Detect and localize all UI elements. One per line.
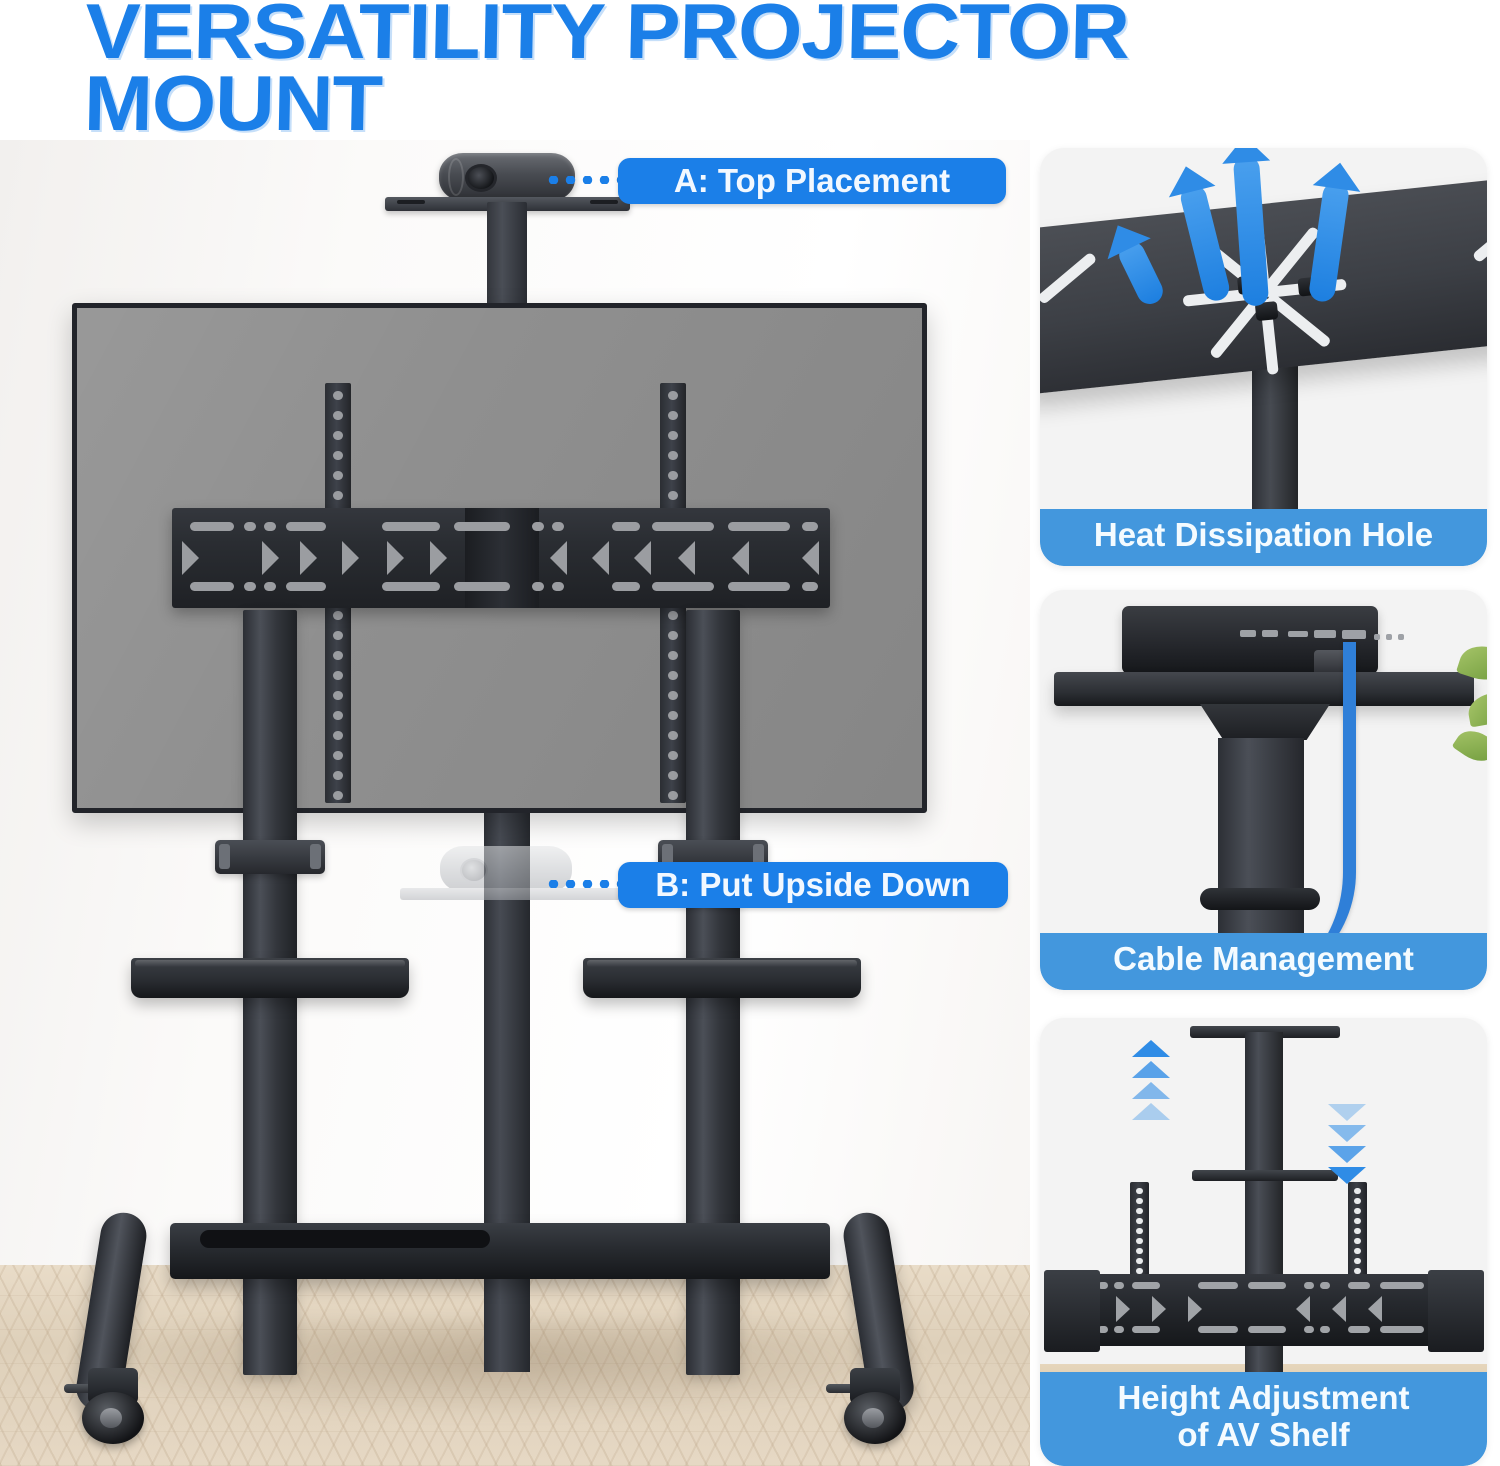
bracket-slot [652,582,714,591]
callout-b-leader-dots [545,880,621,888]
bracket-slot [552,522,564,531]
rail-hole [333,611,343,620]
bracket-slot [286,582,326,591]
device-port [1374,634,1380,640]
bracket-slot [1320,1282,1330,1289]
heat-dissipation-hole [1472,210,1487,263]
rail-hole [668,791,678,800]
chevron-left-icon [802,541,819,575]
rail-hole [668,631,678,640]
panel-label-cable-management: Cable Management [1040,933,1487,990]
caster-hub [100,1408,122,1428]
bracket-slot [1304,1326,1314,1333]
bracket-slot [802,522,818,531]
rail-hole [333,451,343,460]
bracket-slot [1380,1326,1424,1333]
device-port [1314,630,1336,638]
chevron-right-icon [182,541,199,575]
rail-hole [1136,1258,1143,1264]
bracket-slot [1348,1326,1370,1333]
rail-hole [333,491,343,500]
arrow-down-icon [1328,1104,1366,1188]
main-product-scene [0,140,1030,1466]
bracket-slot [1132,1282,1160,1289]
feature-panel-height-adjustment: Height Adjustment of AV Shelf [1040,1018,1487,1466]
rail-hole [1354,1248,1361,1254]
rail-hole [1354,1188,1361,1194]
rail-hole [668,431,678,440]
bracket-slot [244,522,256,531]
bracket-slot [532,582,544,591]
bracket-slot [1380,1282,1424,1289]
rail-hole [668,391,678,400]
device-port [1262,630,1278,637]
bracket-slot [1248,1282,1286,1289]
chevron-left-icon [634,541,651,575]
rail-hole [1354,1198,1361,1204]
rail-hole [333,431,343,440]
bracket-slot [244,582,256,591]
bracket-slot [454,582,510,591]
device-port [1240,630,1256,637]
bracket-slot [1320,1326,1330,1333]
av-shelf-left [131,958,409,998]
bracket-slot [264,582,276,591]
velcro-cable-strap [1200,888,1320,910]
bracket-slot [612,522,640,531]
rail-hole [668,411,678,420]
caster-wheel-front-right [840,1368,910,1446]
rail-hole [333,391,343,400]
rail-hole [1136,1218,1143,1224]
rail-hole [333,671,343,680]
rail-hole [668,451,678,460]
chevron-right-icon [300,541,317,575]
chevron-right-icon [430,541,447,575]
rail-hole [1136,1238,1143,1244]
rail-hole [668,651,678,660]
rail-hole [1354,1228,1361,1234]
ghost-projector-lens-icon [460,858,488,883]
bracket-slot [1114,1326,1124,1333]
rail-hole [1136,1198,1143,1204]
bracket-slot [728,582,790,591]
chevron-left-icon [592,541,609,575]
rail-hole [333,751,343,760]
bracket-slot [1348,1282,1370,1289]
av-shelf-right [583,958,861,998]
bracket-slot [1114,1282,1124,1289]
caster-hub [862,1408,884,1428]
chevron-left-icon [678,541,695,575]
arrow-up-icon [1132,1040,1170,1124]
bracket-slot [532,522,544,531]
rail-hole [668,711,678,720]
rail-hole [333,471,343,480]
bracket-slot [286,522,326,531]
tv-mounting-bracket [172,508,830,608]
bracket-slot [382,582,440,591]
bracket-slot [612,582,640,591]
chevron-left-icon [732,541,749,575]
rail-hole [1354,1218,1361,1224]
chevron-left-icon [1296,1296,1310,1322]
rail-hole [668,691,678,700]
chevron-right-icon [1152,1296,1166,1322]
chevron-left-icon [1332,1296,1346,1322]
bracket-slot [728,522,790,531]
chevron-left-icon [550,541,567,575]
rail-hole [668,751,678,760]
rail-hole [333,731,343,740]
rail-hole [668,611,678,620]
rail-hole [333,711,343,720]
ghost-mount-plate [400,888,622,900]
chevron-right-icon [342,541,359,575]
rail-hole [333,411,343,420]
adjustable-shelf-plate [1192,1170,1338,1181]
bracket-slot [382,522,440,531]
rail-hole [1136,1188,1143,1194]
bracket-slot [190,522,234,531]
bracket-slot [454,522,510,531]
rail-hole [333,771,343,780]
bracket-end-left [1044,1270,1100,1352]
chevron-right-icon [262,541,279,575]
callout-b-label: B: Put Upside Down [618,862,1008,908]
device-port [1288,631,1308,637]
rail-hole [1136,1248,1143,1254]
device-port [1342,630,1366,639]
panel-label-heat-dissipation: Heat Dissipation Hole [1040,509,1487,566]
rail-hole [668,671,678,680]
page-title: VERSATILITY PROJECTOR MOUNT [83,0,1500,140]
bracket-slot [1132,1326,1160,1333]
projector-lens-icon [465,164,497,192]
rail-hole [1354,1258,1361,1264]
bracket-end-right [1428,1270,1484,1352]
bracket-slot [1304,1282,1314,1289]
cable-management-illustration [1040,590,1487,990]
rail-hole [668,731,678,740]
bracket-slot [264,522,276,531]
bracket-slot [190,582,234,591]
tv-mounting-bracket [1048,1274,1480,1346]
base-cable-slot [200,1230,490,1248]
rail-hole [333,651,343,660]
bracket-slot [652,522,714,531]
device-port [1386,634,1392,640]
chevron-right-icon [1116,1296,1130,1322]
rail-hole [1136,1228,1143,1234]
heat-dissipation-illustration [1040,148,1487,566]
panel-label-height-adjustment: Height Adjustment of AV Shelf [1040,1372,1487,1466]
chevron-right-icon [387,541,404,575]
bracket-slot [802,582,818,591]
rail-hole [668,491,678,500]
infographic-root: VERSATILITY PROJECTOR MOUNT [0,0,1500,1466]
device-port [1398,634,1404,640]
rail-hole [333,691,343,700]
rail-hole [668,471,678,480]
rail-hole [1136,1208,1143,1214]
caster-wheel-front-left [78,1368,148,1446]
rail-hole [333,791,343,800]
rail-hole [668,771,678,780]
bracket-slot [1198,1282,1238,1289]
rail-hole [333,631,343,640]
bracket-slot [552,582,564,591]
rail-hole [1354,1238,1361,1244]
shelf-collar-left [215,840,325,874]
plant-leaf [1452,723,1487,769]
rail-hole [1354,1208,1361,1214]
bracket-slot [1248,1326,1286,1333]
feature-panel-cable-management: Cable Management [1040,590,1487,990]
callout-a-leader-dots [545,176,621,184]
chevron-left-icon [1368,1296,1382,1322]
heat-dissipation-hole [1040,252,1097,305]
feature-panel-heat-dissipation: Heat Dissipation Hole [1040,148,1487,566]
callout-a-label: A: Top Placement [618,158,1006,204]
chevron-right-icon [1188,1296,1202,1322]
projector-ring-detail [448,158,464,196]
bracket-slot [1198,1326,1238,1333]
